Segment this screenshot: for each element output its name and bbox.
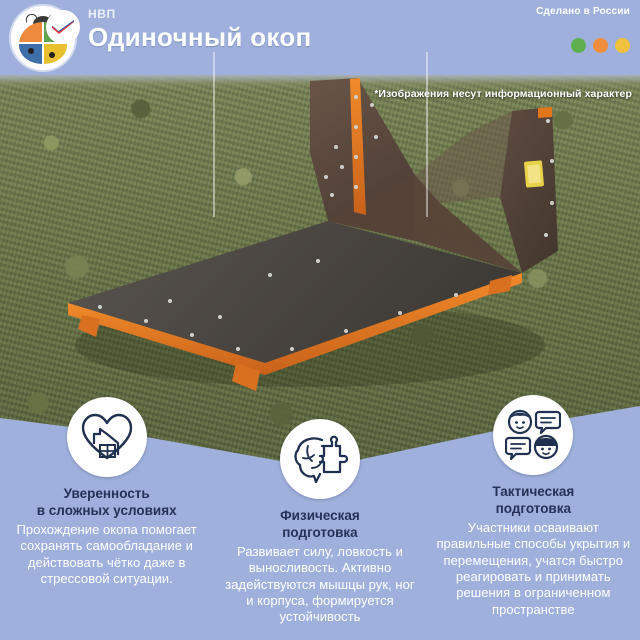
feature-item-confidence: Уверенность в сложных условиях Прохожден… <box>0 395 213 640</box>
feature-title: Физическая подготовка <box>280 508 360 542</box>
feature-title: Уверенность в сложных условиях <box>37 486 177 520</box>
logo <box>8 2 82 74</box>
green-dot <box>571 38 586 53</box>
heart-house-icon <box>67 397 147 477</box>
feature-item-tactical: Тактическая подготовка Участники осваива… <box>427 395 640 640</box>
feature-item-physical: Физическая подготовка Развивает силу, ло… <box>213 395 426 640</box>
feature-body: Развивает силу, ловкость и выносливость.… <box>221 544 418 626</box>
brain-puzzle-icon <box>280 419 360 499</box>
product-poster: НВП Одиночный окоп Сделано в России *Изо… <box>0 0 640 640</box>
people-speech-bubbles-icon <box>493 395 573 475</box>
poster-header: НВП Одиночный окоп Сделано в России <box>0 0 640 75</box>
features-list: Уверенность в сложных условиях Прохожден… <box>0 395 640 640</box>
feature-title: Тактическая подготовка <box>492 484 574 518</box>
status-dots <box>571 38 630 53</box>
made-in-russia-label: Сделано в России <box>536 6 630 17</box>
panel-divider-2 <box>426 52 428 217</box>
page-title: Одиночный окоп <box>88 24 312 51</box>
orange-dot <box>593 38 608 53</box>
brand-block: НВП Одиночный окоп <box>88 8 312 51</box>
russian-flag-check-icon <box>46 10 80 44</box>
brand-kicker: НВП <box>88 8 312 20</box>
feature-body: Прохождение окопа помогает сохранять сам… <box>8 522 205 588</box>
trench-obstacle-structure <box>60 75 580 395</box>
yellow-dot <box>615 38 630 53</box>
panel-divider-1 <box>213 52 215 217</box>
feature-body: Участники осваивают правильные способы у… <box>435 520 632 618</box>
